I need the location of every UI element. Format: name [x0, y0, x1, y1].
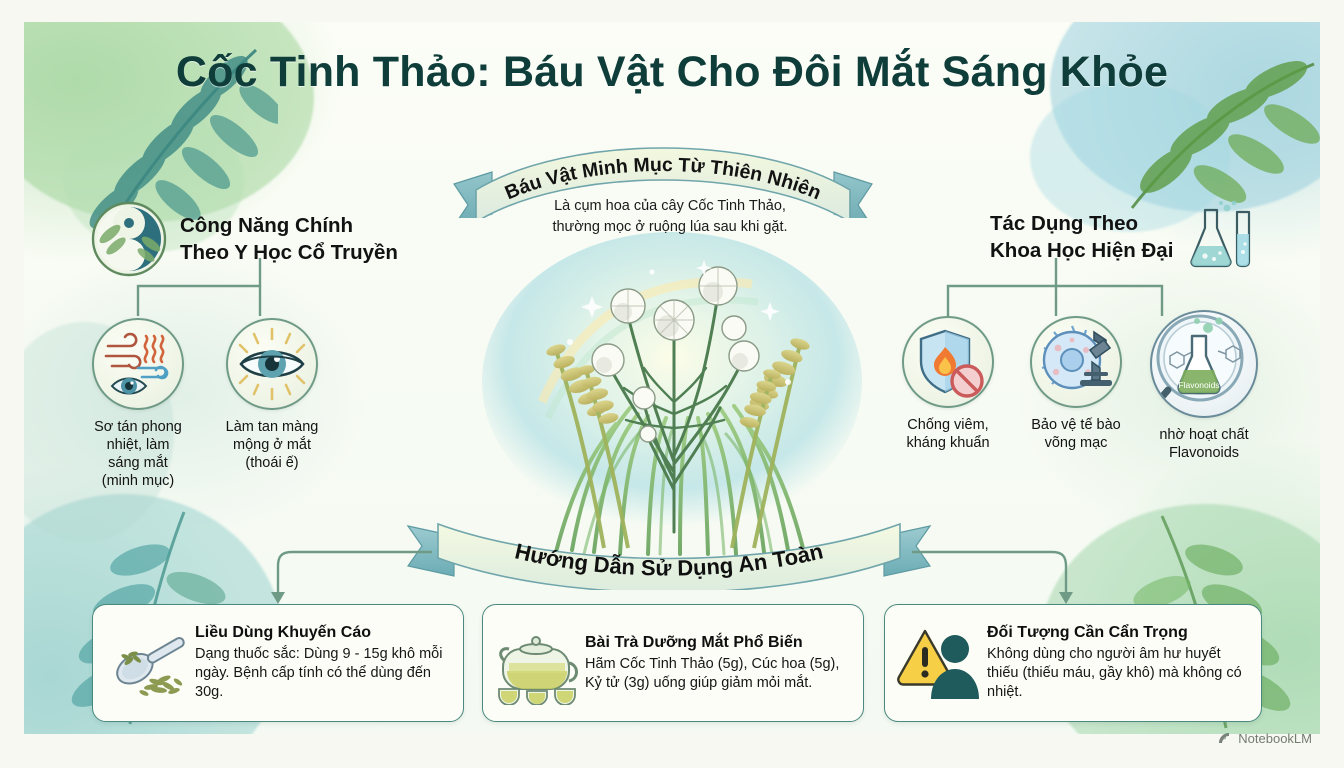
- cap-line: Sơ tán phong: [82, 418, 194, 436]
- shield-flame-block-icon: [902, 316, 994, 408]
- left-section-header: Công Năng Chính Theo Y Học Cổ Truyền: [90, 200, 398, 278]
- right-section-title-line1: Tác Dụng Theo: [990, 210, 1173, 237]
- cap-line: kháng khuẩn: [892, 434, 1004, 452]
- left-section-title-line2: Theo Y Học Cổ Truyền: [180, 239, 398, 266]
- cap-line: mộng ở mắt: [216, 436, 328, 454]
- coc-tinh-thao-plant-illustration: [452, 232, 892, 562]
- cap-line: võng mạc: [1020, 434, 1132, 452]
- right-section-title: Tác Dụng Theo Khoa Học Hiện Đại: [990, 210, 1173, 264]
- cell-microscope-icon: [1030, 316, 1122, 408]
- cap-line: sáng mắt: [82, 454, 194, 472]
- card-caution[interactable]: Đối Tượng Cần Cẩn Trọng Không dùng cho n…: [884, 604, 1262, 722]
- bright-eye-icon: [226, 318, 318, 410]
- right-node-2-caption: Bảo vệ tế bào võng mạc: [1020, 416, 1132, 452]
- cap-line: Làm tan màng: [216, 418, 328, 436]
- page-title: Cốc Tinh Thảo: Báu Vật Cho Đôi Mắt Sáng …: [0, 48, 1344, 97]
- right-node-2: Bảo vệ tế bào võng mạc: [1020, 316, 1132, 452]
- right-node-1-caption: Chống viêm, kháng khuẩn: [892, 416, 1004, 452]
- infographic-root: Cốc Tinh Thảo: Báu Vật Cho Đôi Mắt Sáng …: [0, 0, 1344, 768]
- left-node-2: Làm tan màng mộng ở mắt (thoái ế): [216, 318, 328, 472]
- card-dosage-title: Liều Dùng Khuyến Cáo: [195, 624, 451, 642]
- card-caution-title: Đối Tượng Cần Cẩn Trọng: [987, 624, 1249, 642]
- card-dosage[interactable]: Liều Dùng Khuyến Cáo Dạng thuốc sắc: Dùn…: [92, 604, 464, 722]
- card-tea-recipe-title: Bài Trà Dưỡng Mắt Phổ Biến: [585, 634, 851, 652]
- yin-yang-icon: [90, 200, 168, 278]
- card-caution-text: Không dùng cho người âm hư huyết thiếu (…: [987, 645, 1249, 702]
- spoon-dried-herb-icon: [103, 617, 195, 709]
- card-caution-body: Đối Tượng Cần Cẩn Trọng Không dùng cho n…: [987, 624, 1249, 702]
- right-section-title-line2: Khoa Học Hiện Đại: [990, 237, 1173, 264]
- flask-pair-icon: [1185, 200, 1259, 274]
- warning-person-icon: [895, 617, 987, 709]
- left-node-1-caption: Sơ tán phong nhiệt, làm sáng mắt (minh m…: [82, 418, 194, 491]
- card-tea-recipe-text: Hãm Cốc Tinh Thảo (5g), Cúc hoa (5g), Kỷ…: [585, 655, 851, 693]
- teapot-cups-icon: [493, 617, 585, 709]
- bottom-ribbon: Hướng Dẫn Sử Dụng An Toàn: [404, 514, 934, 590]
- flavonoids-flask-magnifier-icon: Flavonoids: [1150, 310, 1258, 418]
- notebooklm-logo-icon: [1217, 731, 1232, 746]
- cap-line: (minh mục): [82, 472, 194, 490]
- card-tea-recipe[interactable]: Bài Trà Dưỡng Mắt Phổ Biến Hãm Cốc Tinh …: [482, 604, 864, 722]
- right-section-header: Tác Dụng Theo Khoa Học Hiện Đại: [990, 200, 1259, 274]
- wind-heat-eye-icon: [92, 318, 184, 410]
- cap-line: nhiệt, làm: [82, 436, 194, 454]
- top-ribbon-subtitle-line2: thường mọc ở ruộng lúa sau khi gặt.: [470, 217, 870, 238]
- cap-line: nhờ hoạt chất: [1148, 426, 1260, 444]
- svg-text:Flavonoids: Flavonoids: [1178, 380, 1219, 390]
- watermark-label: NotebookLM: [1238, 731, 1312, 746]
- cap-line: (thoái ế): [216, 454, 328, 472]
- top-ribbon-subtitle-line1: Là cụm hoa của cây Cốc Tinh Thảo,: [470, 196, 870, 217]
- card-dosage-body: Liều Dùng Khuyến Cáo Dạng thuốc sắc: Dùn…: [195, 624, 451, 702]
- cap-line: Flavonoids: [1148, 444, 1260, 462]
- right-node-3-caption: nhờ hoạt chất Flavonoids: [1148, 426, 1260, 462]
- top-ribbon-subtitle: Là cụm hoa của cây Cốc Tinh Thảo, thường…: [470, 196, 870, 238]
- card-tea-recipe-body: Bài Trà Dưỡng Mắt Phổ Biến Hãm Cốc Tinh …: [585, 634, 851, 693]
- left-node-2-caption: Làm tan màng mộng ở mắt (thoái ế): [216, 418, 328, 472]
- card-dosage-text: Dạng thuốc sắc: Dùng 9 - 15g khô mỗi ngà…: [195, 645, 451, 702]
- right-node-3: Flavonoids nhờ hoạt chất Flavonoids: [1148, 310, 1260, 462]
- left-section-title-line1: Công Năng Chính: [180, 212, 398, 239]
- cap-line: Chống viêm,: [892, 416, 1004, 434]
- left-node-1: Sơ tán phong nhiệt, làm sáng mắt (minh m…: [82, 318, 194, 491]
- watermark: NotebookLM: [1217, 731, 1312, 746]
- cap-line: Bảo vệ tế bào: [1020, 416, 1132, 434]
- left-section-title: Công Năng Chính Theo Y Học Cổ Truyền: [180, 212, 398, 266]
- right-node-1: Chống viêm, kháng khuẩn: [892, 316, 1004, 452]
